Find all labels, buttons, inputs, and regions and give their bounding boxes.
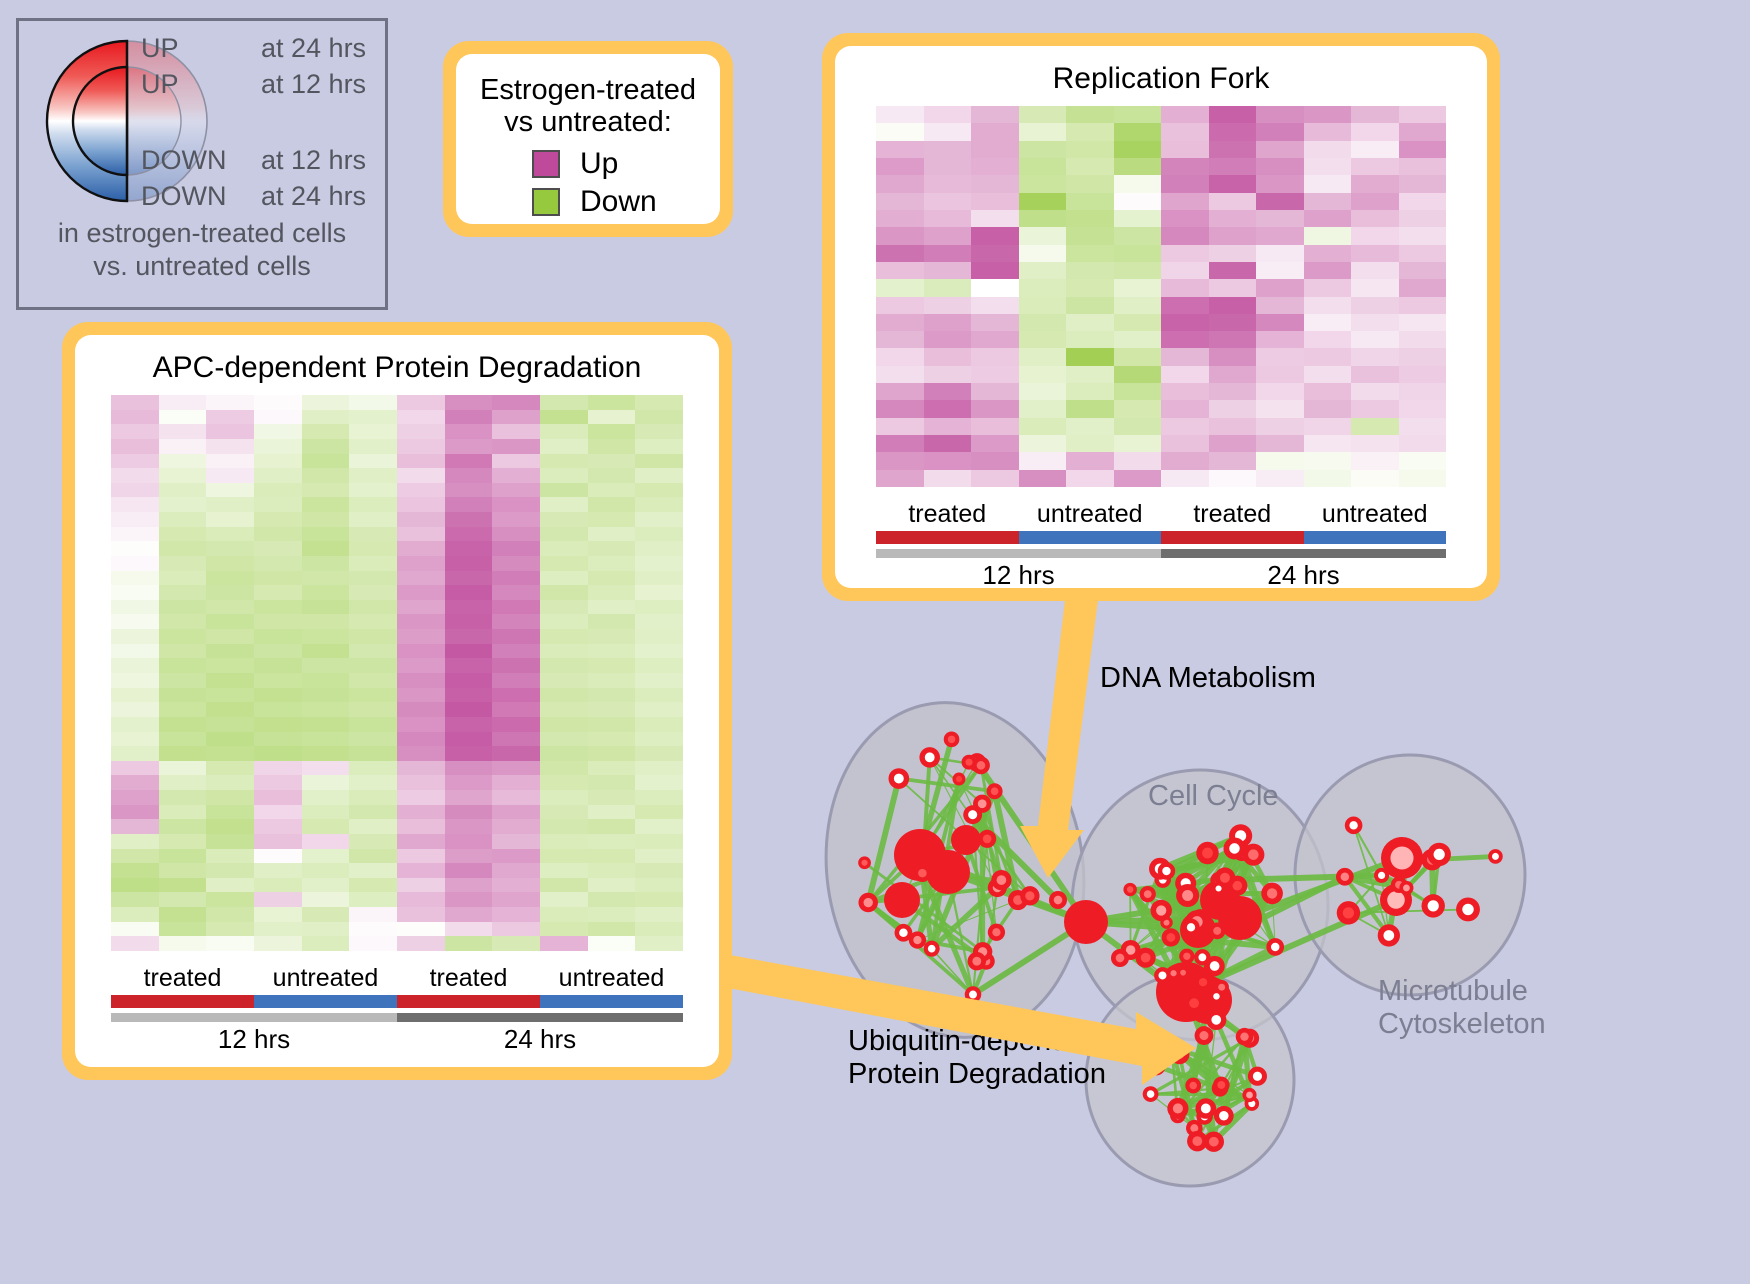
network-node	[962, 755, 977, 770]
color-key-footer: in estrogen-treated cells vs. untreated …	[19, 217, 385, 283]
color-key-footer-line2: vs. untreated cells	[19, 250, 385, 283]
updown-legend-items: Up Down	[456, 145, 720, 221]
network-node	[919, 747, 940, 768]
cluster-label-dna-metabolism: DNA Metabolism	[1100, 662, 1316, 695]
network-node	[1378, 924, 1400, 946]
axis-time-label: 24 hrs	[397, 1024, 683, 1055]
network-node	[991, 870, 1011, 890]
color-key-row: DOWN at 12 hrs	[141, 145, 366, 181]
network-node	[1176, 884, 1199, 907]
heatmap-replication-fork	[876, 106, 1446, 487]
axis-group-label: treated	[876, 501, 1019, 529]
axis-group-colorbar	[876, 531, 1446, 544]
color-key-time: at 12 hrs	[261, 145, 366, 176]
network-node	[1336, 868, 1354, 886]
color-key-direction: DOWN	[141, 145, 261, 176]
network-node	[1162, 928, 1180, 946]
down-swatch-icon	[532, 188, 560, 216]
heatmap-axis-replication-fork: treated untreated treated untreated 12 h	[876, 501, 1446, 591]
network-node	[987, 783, 1003, 799]
axis-group-label: treated	[1161, 501, 1304, 529]
network-node	[1151, 900, 1172, 921]
network-node	[1179, 949, 1194, 964]
network-node	[1266, 938, 1284, 956]
updown-legend-panel: Estrogen-treated vs untreated: Up Down	[443, 41, 733, 237]
heatmap-apc	[111, 395, 683, 951]
updown-title-line1: Estrogen-treated	[466, 74, 710, 106]
axis-time-label: 12 hrs	[876, 560, 1161, 591]
network-node	[1261, 883, 1283, 905]
network-node	[914, 864, 932, 882]
network-node	[978, 830, 996, 848]
panel-title-replication-fork: Replication Fork	[835, 46, 1487, 96]
network-node	[858, 856, 871, 869]
network-node	[1158, 862, 1175, 879]
network-node	[926, 850, 970, 894]
network-node	[888, 768, 909, 789]
color-key-time: at 24 hrs	[261, 33, 366, 64]
network-node	[1184, 993, 1204, 1013]
network-diagram: DNA Metabolism Cell Cycle Microtubule Cy…	[790, 600, 1750, 1279]
network-node	[1212, 882, 1225, 895]
color-key-panel: UP at 24 hrs UP at 12 hrs DOWN at 12 hrs…	[16, 18, 388, 310]
axis-time-label: 12 hrs	[111, 1024, 397, 1055]
network-node	[963, 805, 982, 824]
network-node	[952, 773, 965, 786]
network-node	[924, 941, 940, 957]
network-node	[1223, 837, 1245, 859]
network-node	[965, 986, 982, 1003]
legend-label-up: Up	[580, 149, 618, 179]
network-node	[1381, 837, 1423, 879]
network-node	[1337, 901, 1360, 924]
axis-group-label: untreated	[254, 965, 397, 993]
network-node	[1182, 919, 1199, 936]
network-node	[1020, 886, 1039, 905]
network-node	[1140, 886, 1156, 902]
color-key-direction: DOWN	[141, 181, 261, 212]
network-node	[951, 825, 981, 855]
network-node	[1064, 900, 1108, 944]
axis-group-label: treated	[111, 965, 254, 993]
network-node	[1204, 956, 1224, 976]
axis-group-label: untreated	[1304, 501, 1447, 529]
network-node	[1248, 1067, 1267, 1086]
network-node	[1111, 949, 1129, 967]
color-key-label-list: UP at 24 hrs UP at 12 hrs DOWN at 12 hrs…	[141, 33, 366, 217]
color-key-row: UP at 24 hrs	[141, 33, 366, 69]
color-key-row: UP at 12 hrs	[141, 69, 366, 105]
color-key-row: DOWN at 24 hrs	[141, 181, 366, 217]
axis-time-colorbar	[111, 1013, 683, 1022]
color-key-footer-line1: in estrogen-treated cells	[19, 217, 385, 250]
heatmap-axis-apc: treated untreated treated untreated 12 h	[111, 965, 683, 1055]
legend-item-up: Up	[532, 145, 720, 183]
network-node	[1242, 844, 1264, 866]
network-node	[1143, 1086, 1159, 1102]
color-key-time: at 24 hrs	[261, 181, 366, 212]
network-node	[1204, 1132, 1224, 1152]
axis-group-label: untreated	[1019, 501, 1162, 529]
updown-legend-title: Estrogen-treated vs untreated:	[456, 70, 720, 139]
network-node	[1427, 843, 1450, 866]
network-node	[1049, 891, 1067, 909]
network-node	[909, 931, 926, 948]
network-node	[1196, 1098, 1217, 1119]
cluster-label-microtubule-cytoskeleton: Microtubule Cytoskeleton	[1378, 975, 1546, 1042]
network-node	[1167, 967, 1180, 980]
network-node	[1488, 849, 1503, 864]
network-node	[1123, 883, 1136, 896]
network-node	[1146, 1056, 1165, 1075]
network-node	[944, 732, 960, 748]
network-node	[1185, 1078, 1201, 1094]
network-graph	[790, 600, 1750, 1279]
panel-title-apc: APC-dependent Protein Degradation	[75, 335, 719, 385]
network-node	[968, 952, 986, 970]
cluster-label-cell-cycle: Cell Cycle	[1148, 780, 1279, 813]
color-key-time: at 12 hrs	[261, 69, 366, 100]
network-node	[1399, 881, 1413, 895]
network-node	[1214, 1106, 1234, 1126]
color-key-direction: UP	[141, 69, 261, 100]
axis-group-label: untreated	[540, 965, 683, 993]
cluster-label-ubiquitin-dependent-protein-degradation: Ubiquitin-dependent Protein Degradation	[848, 1025, 1108, 1092]
network-node	[1206, 1010, 1226, 1030]
axis-time-label: 24 hrs	[1161, 560, 1446, 591]
network-node	[1170, 1045, 1190, 1065]
network-node	[1345, 817, 1363, 835]
network-node	[1194, 974, 1211, 991]
network-node	[1167, 1098, 1188, 1119]
network-node	[1242, 1088, 1256, 1102]
network-node	[1236, 1028, 1254, 1046]
legend-item-down: Down	[532, 183, 720, 221]
panel-apc-dependent-protein-degradation: APC-dependent Protein Degradation treate…	[62, 322, 732, 1080]
network-node	[1196, 842, 1218, 864]
network-node	[1210, 990, 1224, 1004]
figure-canvas: UP at 24 hrs UP at 12 hrs DOWN at 12 hrs…	[0, 0, 1750, 1279]
axis-group-label: treated	[397, 965, 540, 993]
network-node	[884, 882, 920, 918]
axis-time-colorbar	[876, 549, 1446, 558]
network-node	[858, 893, 878, 913]
network-node	[1213, 1077, 1230, 1094]
panel-replication-fork: Replication Fork treated untreated treat…	[822, 33, 1500, 601]
network-node	[1195, 1026, 1214, 1045]
axis-group-colorbar	[111, 995, 683, 1008]
network-node	[1136, 948, 1156, 968]
network-node	[988, 924, 1005, 941]
updown-title-line2: vs untreated:	[466, 106, 710, 138]
network-node	[1456, 897, 1480, 921]
color-key-direction: UP	[141, 33, 261, 64]
legend-label-down: Down	[580, 187, 657, 217]
up-swatch-icon	[532, 150, 560, 178]
network-node	[1421, 894, 1444, 917]
